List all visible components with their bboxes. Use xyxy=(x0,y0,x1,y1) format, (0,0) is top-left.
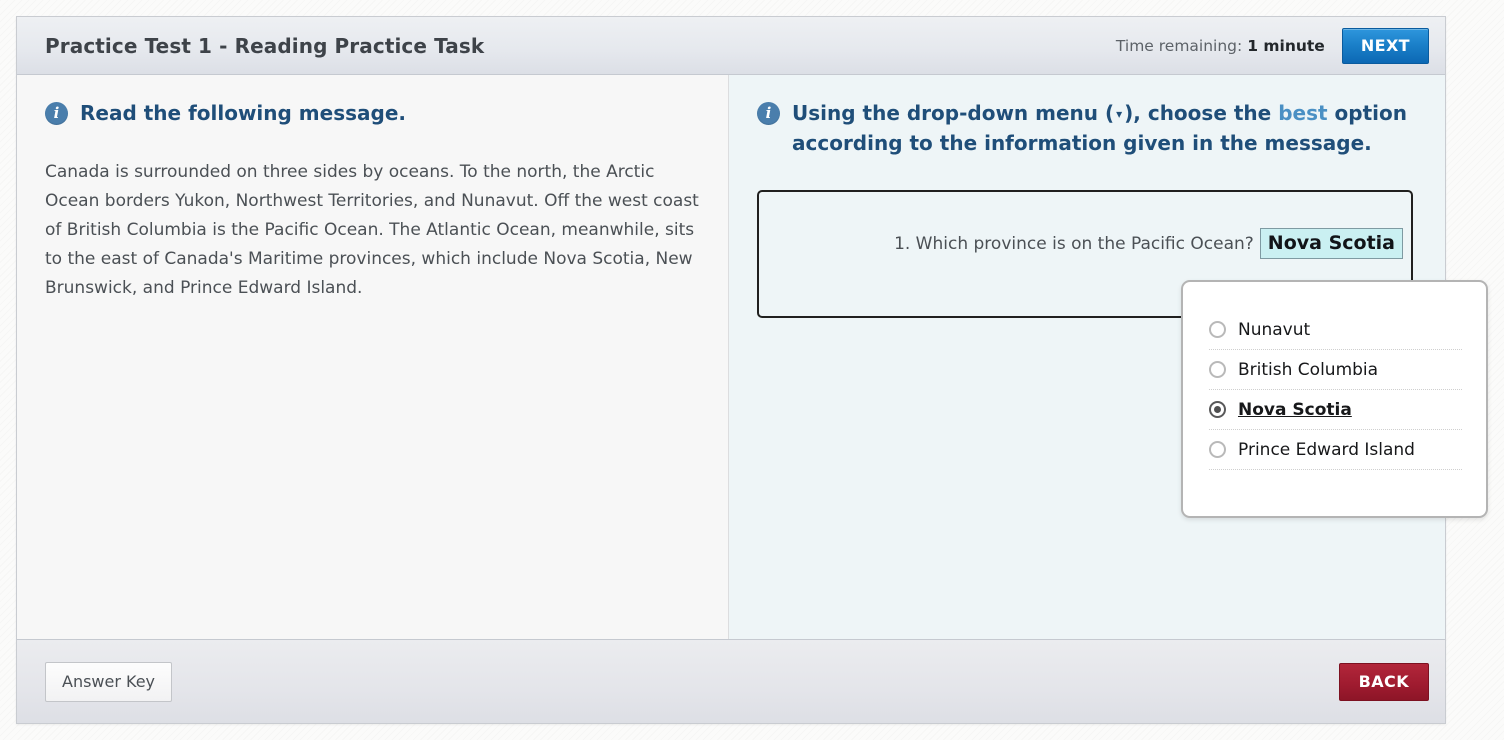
reading-passage: Canada is surrounded on three sides by o… xyxy=(45,158,702,303)
info-icon: i xyxy=(45,102,68,125)
next-button[interactable]: NEXT xyxy=(1342,28,1429,64)
question-instruction-text: Using the drop-down menu (▾), choose the… xyxy=(792,99,1415,158)
dropdown-option-label: Nunavut xyxy=(1238,320,1310,340)
dropdown-option-label: Prince Edward Island xyxy=(1238,440,1415,460)
question-text: 1. Which province is on the Pacific Ocea… xyxy=(894,234,1254,254)
radio-unselected-icon[interactable] xyxy=(1209,361,1226,378)
dropdown-selected-value[interactable]: Nova Scotia xyxy=(1260,228,1403,259)
dropdown-option-label: British Columbia xyxy=(1238,360,1378,380)
instruction-accent-word: best xyxy=(1278,101,1327,125)
info-icon: i xyxy=(757,102,780,125)
header-bar: Practice Test 1 - Reading Practice Task … xyxy=(17,17,1445,75)
dropdown-option-label: Nova Scotia xyxy=(1238,400,1352,420)
radio-unselected-icon[interactable] xyxy=(1209,441,1226,458)
instruction-part-1: Using the drop-down menu ( xyxy=(792,101,1114,125)
question-row: 1. Which province is on the Pacific Ocea… xyxy=(759,228,1411,259)
question-instruction-row: i Using the drop-down menu (▾), choose t… xyxy=(757,99,1415,158)
time-remaining-value: 1 minute xyxy=(1247,37,1325,55)
chevron-down-icon: ▾ xyxy=(1114,100,1124,129)
dropdown-option[interactable]: Nunavut xyxy=(1209,310,1462,350)
time-remaining-label: Time remaining: xyxy=(1116,37,1242,55)
message-instruction-text: Read the following message. xyxy=(80,99,406,128)
time-remaining: Time remaining: 1 minute xyxy=(1116,37,1325,55)
page-title: Practice Test 1 - Reading Practice Task xyxy=(45,34,484,58)
dropdown-option[interactable]: Prince Edward Island xyxy=(1209,430,1462,470)
message-instruction-row: i Read the following message. xyxy=(45,99,702,128)
radio-unselected-icon[interactable] xyxy=(1209,321,1226,338)
answer-key-button[interactable]: Answer Key xyxy=(45,662,172,702)
back-button[interactable]: BACK xyxy=(1339,663,1429,701)
dropdown-option[interactable]: Nova Scotia xyxy=(1209,390,1462,430)
dropdown-option[interactable]: British Columbia xyxy=(1209,350,1462,390)
footer-bar: Answer Key BACK xyxy=(17,639,1445,723)
header-right-group: Time remaining: 1 minute NEXT xyxy=(1116,28,1429,64)
dropdown-menu[interactable]: NunavutBritish ColumbiaNova ScotiaPrince… xyxy=(1181,280,1488,518)
message-panel: i Read the following message. Canada is … xyxy=(17,75,729,641)
radio-selected-icon[interactable] xyxy=(1209,401,1226,418)
instruction-part-2: ), choose the xyxy=(1124,101,1278,125)
